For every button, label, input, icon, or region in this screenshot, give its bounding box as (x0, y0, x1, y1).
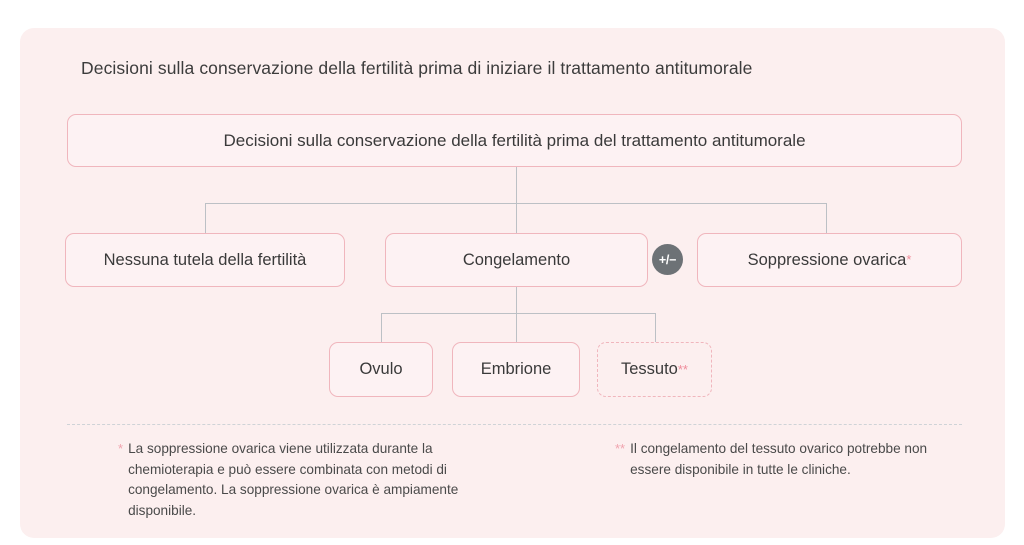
node-freezing-label: Congelamento (463, 251, 570, 270)
node-no-preservation-label: Nessuna tutela della fertilità (104, 251, 307, 270)
footnote-2-marker: ** (615, 439, 625, 456)
page-title: Decisioni sulla conservazione della fert… (81, 58, 753, 79)
connector-row2-right-drop (826, 203, 827, 234)
diagram-card: Decisioni sulla conservazione della fert… (20, 28, 1005, 538)
node-embryo[interactable]: Embrione (452, 342, 580, 397)
connector-row3-bar (381, 313, 656, 314)
node-no-preservation[interactable]: Nessuna tutela della fertilità (65, 233, 345, 287)
footnote-divider (67, 424, 962, 425)
node-ovarian-suppression[interactable]: Soppressione ovarica* (697, 233, 962, 287)
node-root-label: Decisioni sulla conservazione della fert… (223, 131, 805, 151)
node-ovarian-suppression-label: Soppressione ovarica (748, 251, 907, 270)
footnote-double-asterisk: ** Il congelamento del tessuto ovarico p… (615, 439, 955, 480)
footnote-1-text: La soppressione ovarica viene utilizzata… (128, 439, 518, 522)
footnote-1-marker: * (118, 439, 123, 456)
node-embryo-label: Embrione (481, 360, 552, 379)
footnote-single-asterisk: * La soppressione ovarica viene utilizza… (118, 439, 518, 522)
node-egg-label: Ovulo (359, 360, 402, 379)
node-root-decision[interactable]: Decisioni sulla conservazione della fert… (67, 114, 962, 167)
node-tissue-label: Tessuto (621, 360, 678, 379)
connector-row2-bar (205, 203, 827, 204)
connector-root-down (516, 167, 517, 233)
footnote-2-text: Il congelamento del tessuto ovarico potr… (630, 439, 955, 480)
node-egg[interactable]: Ovulo (329, 342, 433, 397)
plus-minus-icon: +/− (652, 244, 683, 275)
connector-freezing-down (516, 287, 517, 343)
node-tissue[interactable]: Tessuto** (597, 342, 712, 397)
connector-row2-left-drop (205, 203, 206, 234)
node-freezing[interactable]: Congelamento (385, 233, 648, 287)
connector-row3-right-drop (655, 313, 656, 343)
connector-row3-left-drop (381, 313, 382, 343)
